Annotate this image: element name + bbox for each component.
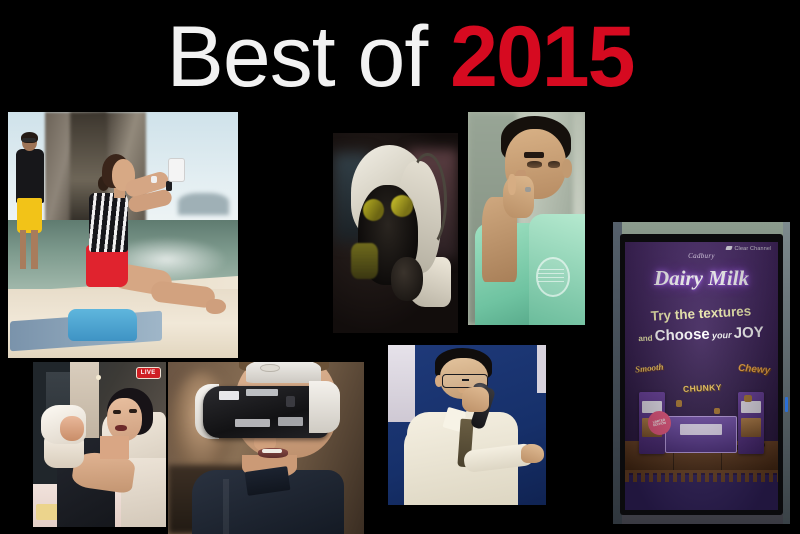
wall-right: [783, 222, 790, 524]
mask-filter: [351, 243, 379, 279]
headset-strap-buckle: [260, 364, 280, 373]
finger: [508, 174, 516, 195]
woman-watch: [166, 181, 173, 191]
eye-left: [527, 161, 542, 168]
mic-scene: [388, 345, 546, 505]
live-badge: LIVE: [136, 367, 161, 379]
man-yellow-shorts: [17, 198, 42, 232]
goggle-sensor: [286, 396, 296, 406]
man-torso: [16, 149, 44, 203]
woman-wristband: [151, 176, 158, 183]
wall-white-panel-right: [537, 345, 546, 393]
page-title: Best of 2015: [0, 14, 800, 100]
billboard-scene: LIMITED EDITION Smooth CHUNKY Chewy Try …: [613, 222, 790, 524]
title-white-part: Best of: [167, 9, 451, 105]
ring: [525, 187, 531, 192]
eye-right: [548, 161, 561, 168]
woman-striped-top: [89, 193, 128, 252]
cadbury-billboard-photo: LIMITED EDITION Smooth CHUNKY Chewy Try …: [613, 222, 790, 524]
mother-neck: [100, 436, 129, 459]
mother-eye-left: [113, 410, 121, 414]
beach-selfie-photo: [8, 112, 238, 358]
shirt-logo-text: [538, 267, 564, 282]
ear: [562, 159, 573, 178]
green-shirt-scene: [468, 112, 585, 325]
eyeglasses-bridge: [462, 379, 468, 381]
goggle-reflection-1: [219, 391, 239, 400]
gas-mask-photo: [333, 133, 458, 333]
baby-head: [60, 416, 84, 441]
goggle-reflection-3: [235, 419, 270, 428]
headset-side-right: [309, 381, 340, 433]
woman-foot: [206, 299, 227, 314]
eyebrow: [524, 152, 544, 157]
teeth: [262, 449, 282, 453]
goggle-reflection-4: [278, 417, 303, 426]
wall-light: [96, 375, 101, 380]
screen-vignette: [625, 242, 777, 511]
hospital-scene: LIVE: [33, 362, 166, 527]
mother-face: [107, 398, 142, 441]
vr-headset-photo: [168, 362, 364, 534]
gas-mask-scene: [333, 133, 458, 333]
beach-scene: [8, 112, 238, 358]
man-with-microphone-photo: [388, 345, 546, 505]
hospital-newborn-photo: LIVE: [33, 362, 166, 527]
man-green-shirt-photo: [468, 112, 585, 325]
man-leg-left: [20, 230, 27, 269]
man-leg-right: [31, 230, 38, 269]
pointing-hand: [521, 444, 545, 463]
distant-hill: [178, 193, 229, 215]
title-red-year: 2015: [450, 9, 633, 105]
mask-canister: [391, 257, 424, 301]
mother-eye-right: [129, 409, 137, 413]
mask-lens-right: [391, 195, 414, 217]
goggle-reflection-2: [246, 389, 277, 396]
smartphone: [169, 159, 184, 181]
shirt-placket: [223, 479, 229, 534]
hand-holding-microphone: [462, 387, 489, 413]
vr-scene: [168, 362, 364, 534]
headset-strap: [246, 362, 320, 383]
collage-canvas: Best of 2015: [0, 0, 800, 534]
blue-beach-bag: [68, 309, 137, 341]
wall-white-panel-left: [388, 345, 415, 422]
wall-blue-light: [785, 397, 788, 412]
billboard-screen: LIMITED EDITION Smooth CHUNKY Chewy Try …: [625, 242, 777, 511]
man-sunglasses: [22, 138, 36, 142]
